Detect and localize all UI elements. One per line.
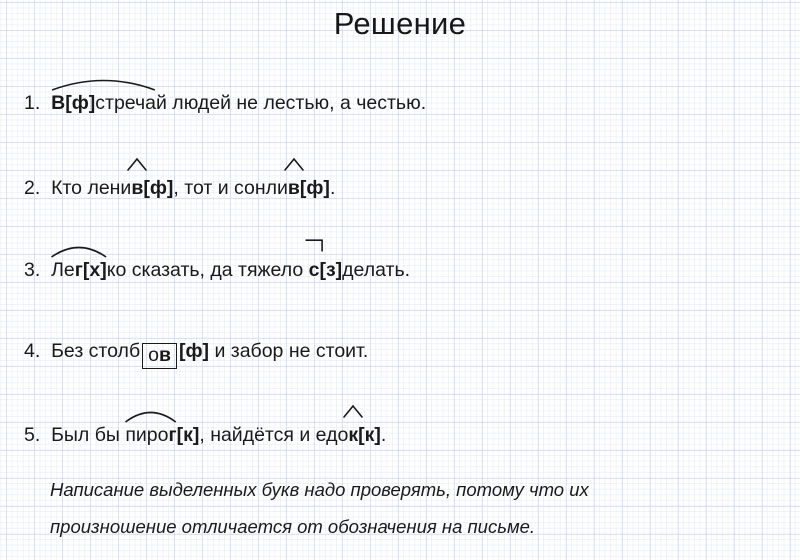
marked-letter-2b: в (288, 177, 300, 199)
marked-letter-2a: в (131, 177, 143, 199)
exercise-tail-2: . (330, 177, 335, 199)
transcription-2a: [ф] (143, 177, 173, 199)
note-line-2: произношение отличается от обозначения н… (50, 514, 535, 540)
root-tail-3: ко (107, 259, 127, 281)
transcription-4: [ф] (179, 340, 209, 362)
root-arc-group-1: В[ф]стреча (51, 90, 156, 116)
exercise-tail-5: . (381, 424, 386, 446)
exercise-number-2: 2. (24, 177, 40, 199)
exercise-number-4: 4. (24, 340, 40, 362)
suffix-group-5: к (348, 422, 358, 448)
transcription-2b: [ф] (300, 177, 330, 199)
worksheet-page: Решение 1. В[ф]стречай людей не лестью, … (0, 0, 800, 560)
exercise-number-3: 3. (24, 259, 40, 281)
exercise-line-3: 3. Лег[х]ко сказать, да тяжело с[з]делат… (24, 257, 410, 283)
ending-plain-4: о (148, 344, 159, 366)
marked-letter-1: В (51, 92, 65, 114)
root-tail-1: стреча (95, 92, 156, 114)
ending-box: ов (142, 343, 177, 369)
exercise-line-4: 4. Без столбов[ф] и забор не стоит. (24, 338, 368, 369)
suffix-caret-icon (283, 158, 304, 171)
prefix-mark-icon (305, 239, 324, 253)
root-lead-3: Ле (51, 259, 75, 281)
prefix-group-3: с (309, 257, 320, 283)
transcription-1: [ф] (65, 92, 95, 114)
marked-letter-3b: с (309, 259, 320, 281)
exercise-tail-4: и забор не стоит. (209, 340, 368, 362)
exercise-tail-3: делать. (342, 259, 410, 281)
transcription-5a: [к] (177, 424, 200, 446)
root-lead-5: пиро (125, 424, 168, 446)
transcription-3b: [з] (319, 259, 342, 281)
marked-letter-5a: г (168, 424, 176, 446)
root-arc-icon (51, 74, 156, 91)
root-arc-icon (51, 241, 107, 258)
suffix-caret-icon (343, 405, 364, 418)
exercise-lead-4: Без столб (51, 340, 140, 362)
transcription-3a: [х] (83, 259, 107, 281)
exercise-number-5: 5. (24, 424, 40, 446)
suffix-group-2b: в (288, 175, 300, 201)
marked-letter-5b: к (348, 424, 358, 446)
root-arc-group-3: Лег[х] (51, 257, 107, 283)
suffix-caret-icon (127, 158, 148, 171)
suffix-group-2a: в (131, 175, 143, 201)
exercise-line-1: 1. В[ф]стречай людей не лестью, а честью… (24, 90, 426, 116)
root-arc-group-5: пирог (125, 422, 176, 448)
note-line-1: Написание выделенных букв надо проверять… (50, 477, 589, 503)
marked-letter-4: в (159, 344, 171, 366)
root-arc-icon (125, 406, 176, 423)
page-title: Решение (0, 6, 800, 42)
exercise-line-2: 2. Кто ленив[ф], тот и сонлив[ф]. (24, 175, 335, 201)
exercise-number-1: 1. (24, 92, 40, 114)
exercise-line-5: 5. Был бы пирог[к], найдётся и едок[к]. (24, 422, 386, 448)
exercise-middle-2: , тот и сонли (173, 177, 287, 199)
exercise-rest-1: й людей не лестью, а честью. (156, 92, 426, 114)
marked-letter-3a: г (75, 259, 83, 281)
exercise-middle-3: сказать, да тяжело (126, 259, 308, 281)
exercise-lead-2: Кто лени (51, 177, 131, 199)
exercise-lead-5: Был бы (51, 424, 125, 446)
transcription-5b: [к] (358, 424, 381, 446)
exercise-middle-5: , найдётся и едо (199, 424, 348, 446)
